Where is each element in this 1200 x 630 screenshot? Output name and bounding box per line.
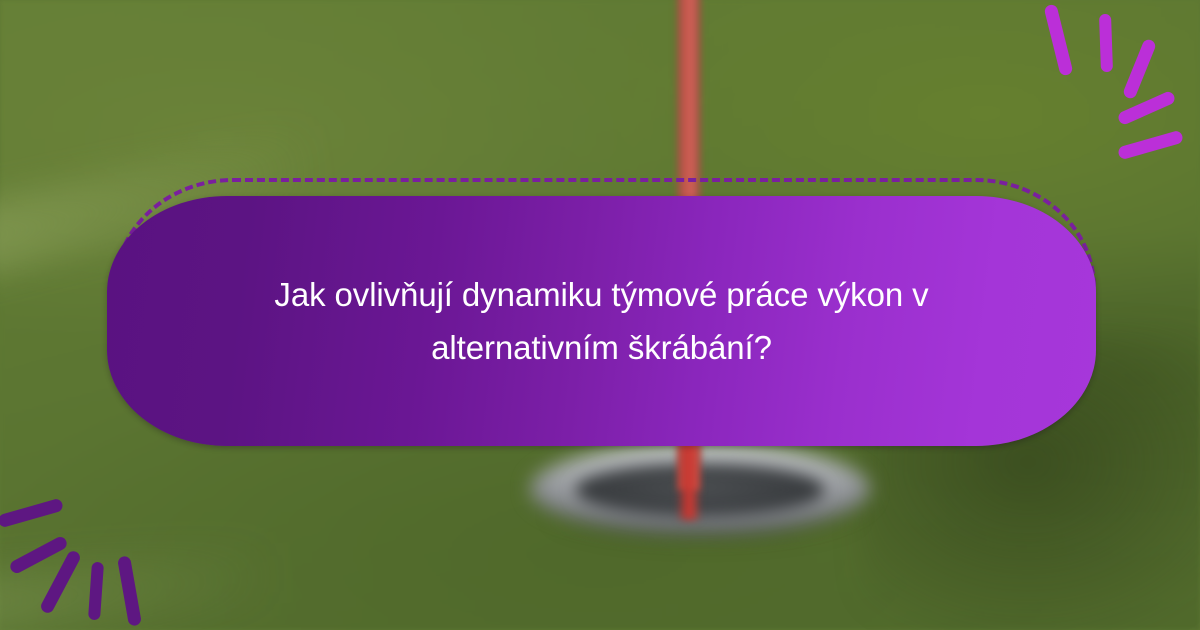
social-card-image: Jak ovlivňují dynamiku týmové práce výko… xyxy=(0,0,1200,630)
flagpole-base-icon xyxy=(678,440,700,520)
sparkle-dash-icon xyxy=(1099,14,1113,72)
headline-card: Jak ovlivňují dynamiku týmové práce výko… xyxy=(107,196,1096,446)
page-title: Jak ovlivňují dynamiku týmové práce výko… xyxy=(207,268,997,375)
